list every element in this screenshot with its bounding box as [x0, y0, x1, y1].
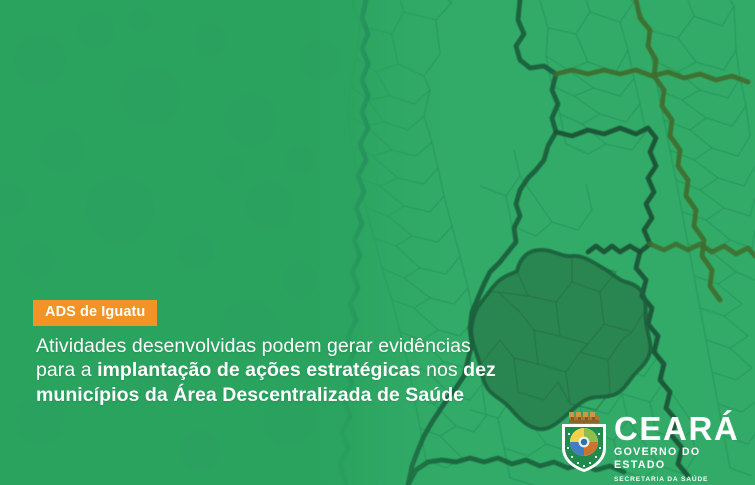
government-line: GOVERNO DO ESTADO [614, 446, 746, 472]
promotional-banner: ADS de Iguatu Atividades desenvolvidas p… [0, 0, 755, 485]
headline-segment-1: implantação de ações estratégicas [97, 359, 421, 381]
headline-segment-2: nos [421, 359, 464, 381]
headline-text: Atividades desenvolvidas podem gerar evi… [36, 334, 506, 407]
ceara-coat-of-arms-icon [556, 410, 612, 474]
department-line: SECRETARIA DA SAÚDE [614, 475, 746, 485]
state-name: CEARÁ [614, 414, 746, 444]
brand-lockup: CEARÁ GOVERNO DO ESTADO SECRETARIA DA SA… [556, 408, 746, 476]
brand-wordmark: CEARÁ GOVERNO DO ESTADO SECRETARIA DA SA… [614, 414, 746, 485]
status-badge: ADS de Iguatu [33, 300, 157, 326]
